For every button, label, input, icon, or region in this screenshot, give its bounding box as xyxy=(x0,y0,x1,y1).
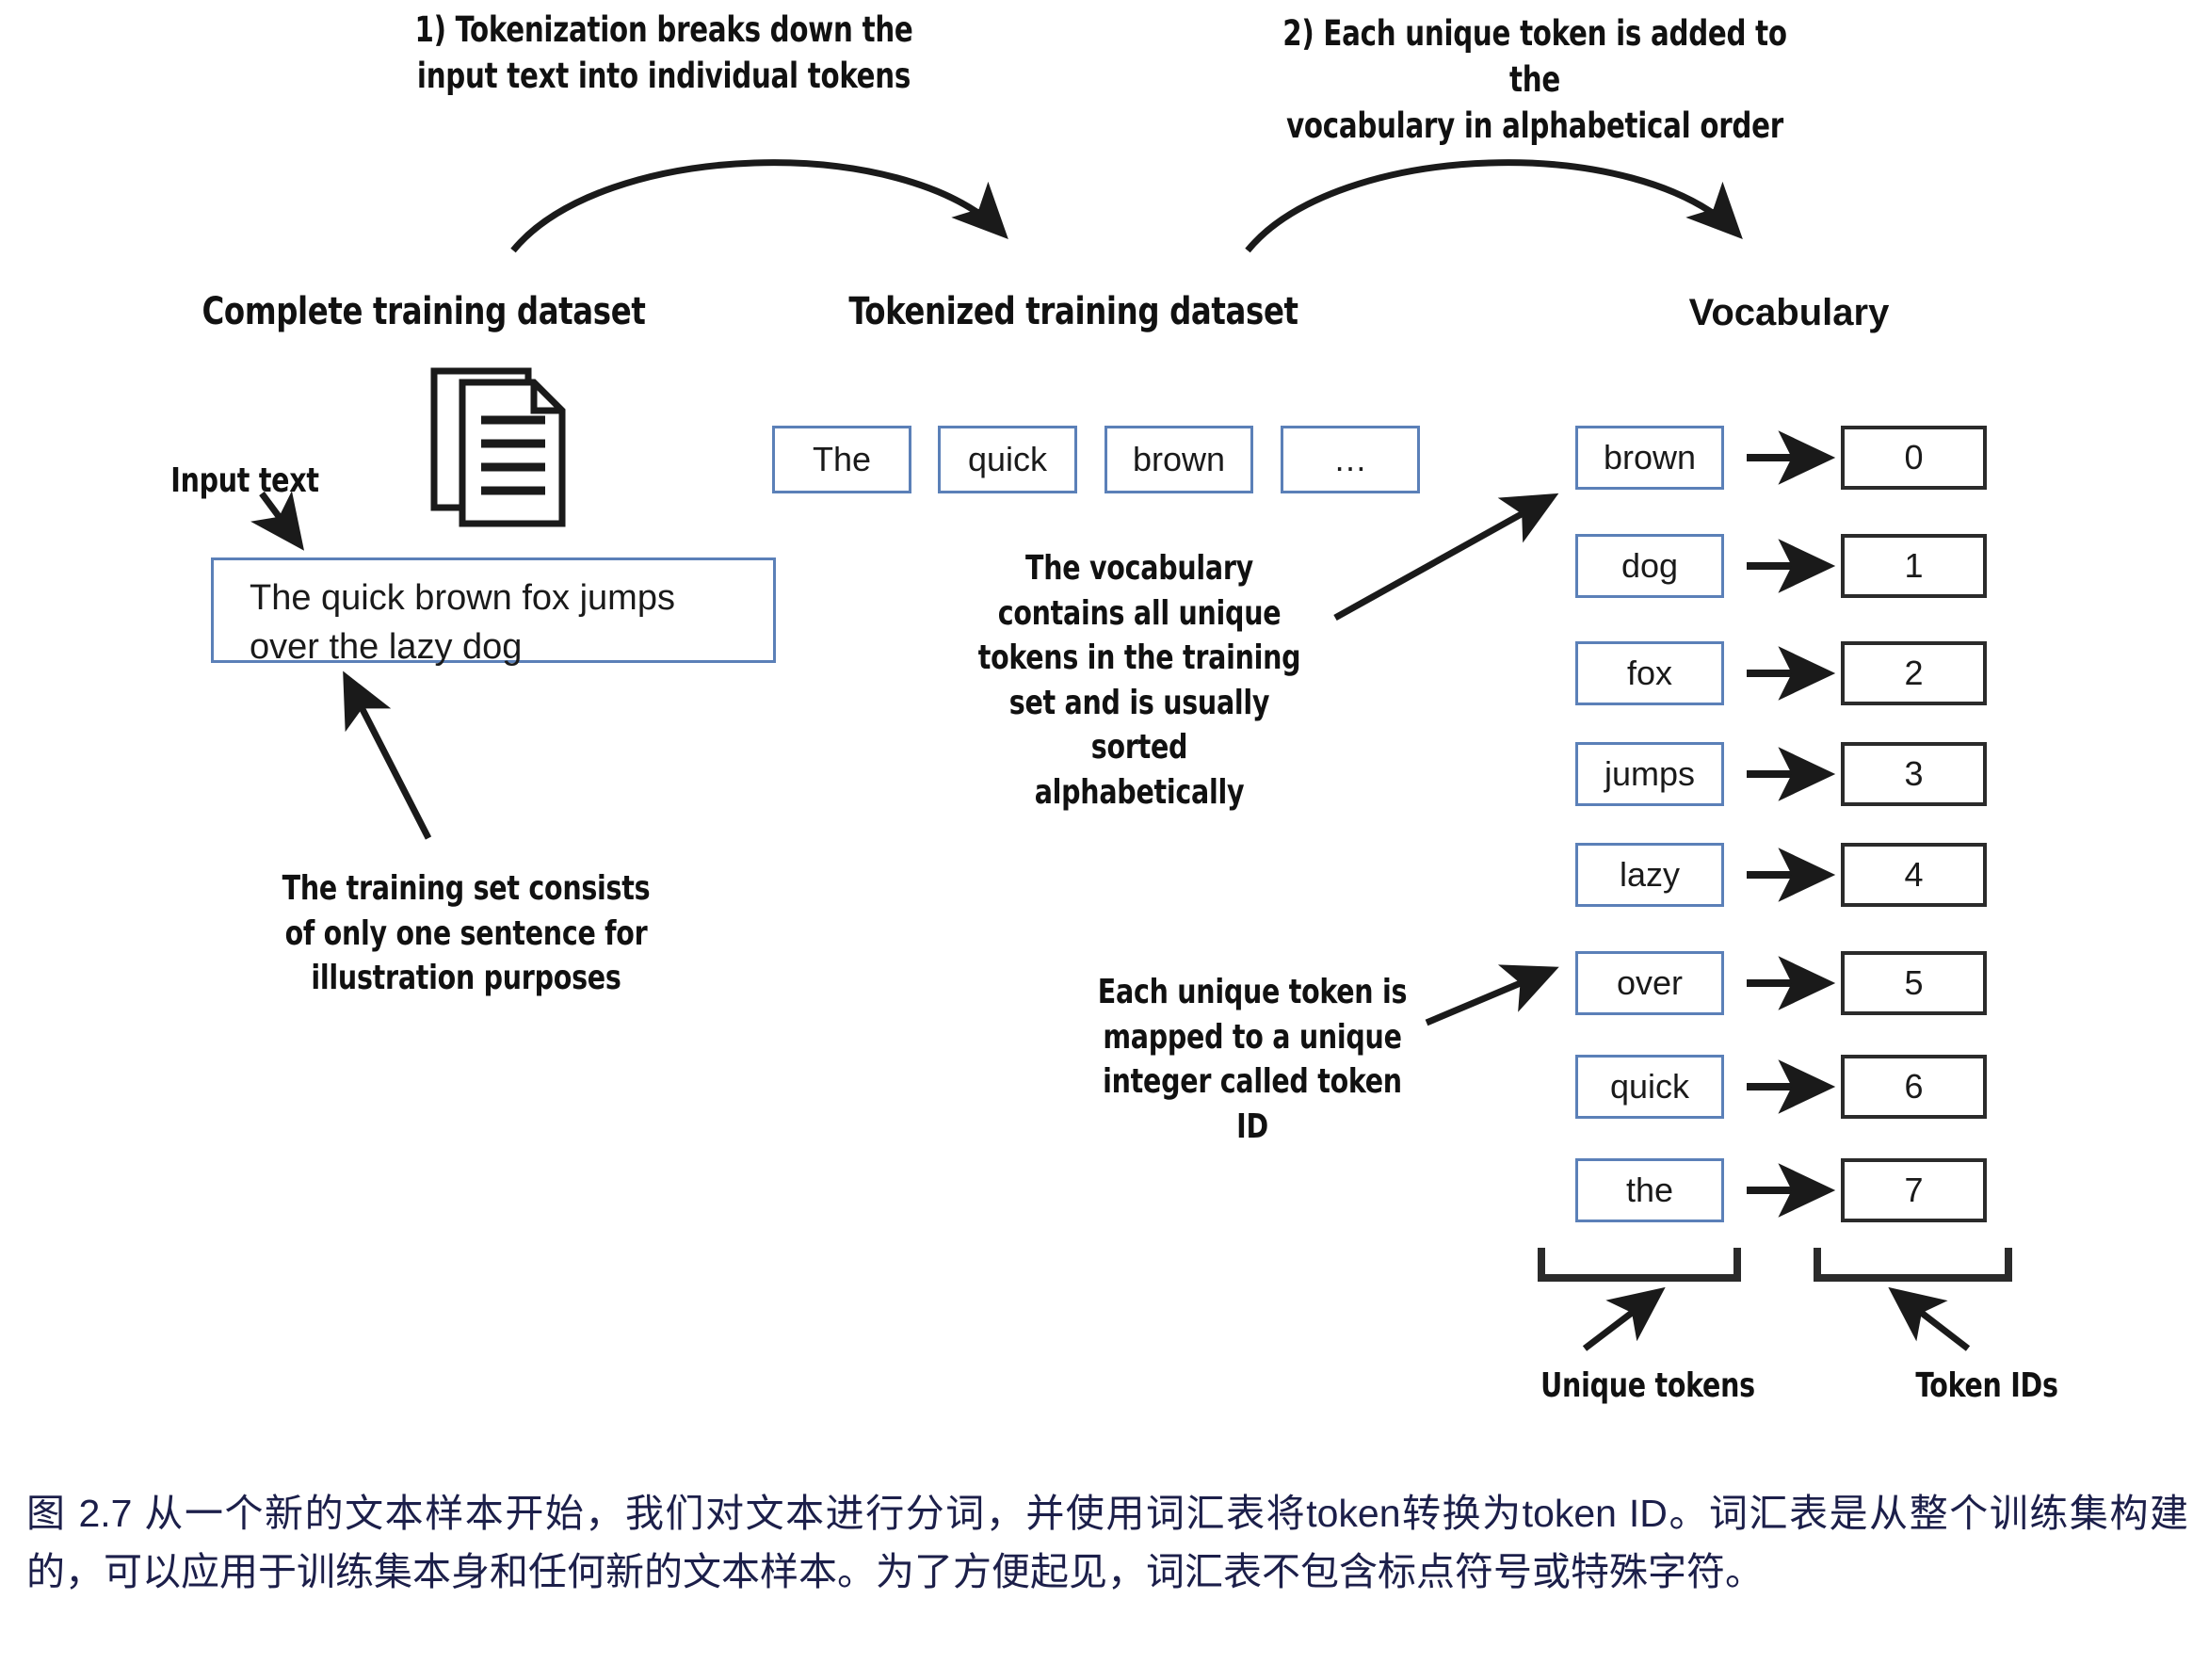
token-id-annotation: Each unique token is mapped to a unique … xyxy=(1087,970,1418,1149)
training-set-annotation: The training set consists of only one se… xyxy=(267,866,665,1001)
arrow-overlay xyxy=(0,0,2209,1680)
token-box: The xyxy=(772,426,911,493)
vocab-id-box: 7 xyxy=(1841,1158,1987,1222)
header-vocabulary: Vocabulary xyxy=(1591,292,1987,334)
vocab-token-box: lazy xyxy=(1575,843,1724,907)
token-id-pointer-arrow xyxy=(1427,970,1552,1023)
token-box-ellipsis: … xyxy=(1281,426,1420,493)
token-box: quick xyxy=(938,426,1077,493)
step-2-curved-arrow xyxy=(1248,163,1737,250)
figure-caption: 图 2.7 从一个新的文本样本开始，我们对文本进行分词，并使用词汇表将token… xyxy=(26,1484,2188,1602)
vocab-id-box: 0 xyxy=(1841,426,1987,490)
vocab-id-box: 3 xyxy=(1841,742,1987,806)
header-tokenized-dataset: Tokenized training dataset xyxy=(811,290,1336,333)
vocab-id-box: 1 xyxy=(1841,534,1987,598)
unique-tokens-bracket xyxy=(1541,1248,1737,1278)
step-2-annotation: 2) Each unique token is added to the voc… xyxy=(1253,11,1816,149)
step-1-annotation: 1) Tokenization breaks down the input te… xyxy=(386,8,942,100)
document-stack-icon xyxy=(428,365,570,544)
header-complete-dataset: Complete training dataset xyxy=(178,290,669,333)
vocabulary-annotation: The vocabulary contains all unique token… xyxy=(965,546,1314,815)
vocab-token-box: quick xyxy=(1575,1055,1724,1119)
vocab-token-box: dog xyxy=(1575,534,1724,598)
vocab-token-box: fox xyxy=(1575,641,1724,705)
token-ids-label: Token IDs xyxy=(1875,1364,2099,1409)
input-text-label: Input text xyxy=(145,459,344,504)
token-ids-bracket xyxy=(1817,1248,2008,1278)
token-box: brown xyxy=(1104,426,1253,493)
unique-tokens-label-arrow xyxy=(1585,1292,1659,1349)
vocab-token-box: over xyxy=(1575,951,1724,1015)
vocab-token-box: the xyxy=(1575,1158,1724,1222)
vocab-id-box: 6 xyxy=(1841,1055,1987,1119)
vocabulary-pointer-arrow xyxy=(1335,497,1552,618)
vocab-id-box: 5 xyxy=(1841,951,1987,1015)
training-set-pointer-arrow xyxy=(347,678,428,838)
vocab-token-box: brown xyxy=(1575,426,1724,490)
step-1-curved-arrow xyxy=(513,163,1003,250)
vocab-id-box: 2 xyxy=(1841,641,1987,705)
vocab-token-box: jumps xyxy=(1575,742,1724,806)
vocab-id-box: 4 xyxy=(1841,843,1987,907)
input-text-box: The quick brown fox jumps over the lazy … xyxy=(211,557,776,663)
token-ids-label-arrow xyxy=(1895,1292,1968,1349)
figure-canvas: 1) Tokenization breaks down the input te… xyxy=(0,0,2209,1680)
unique-tokens-label: Unique tokens xyxy=(1507,1364,1788,1409)
